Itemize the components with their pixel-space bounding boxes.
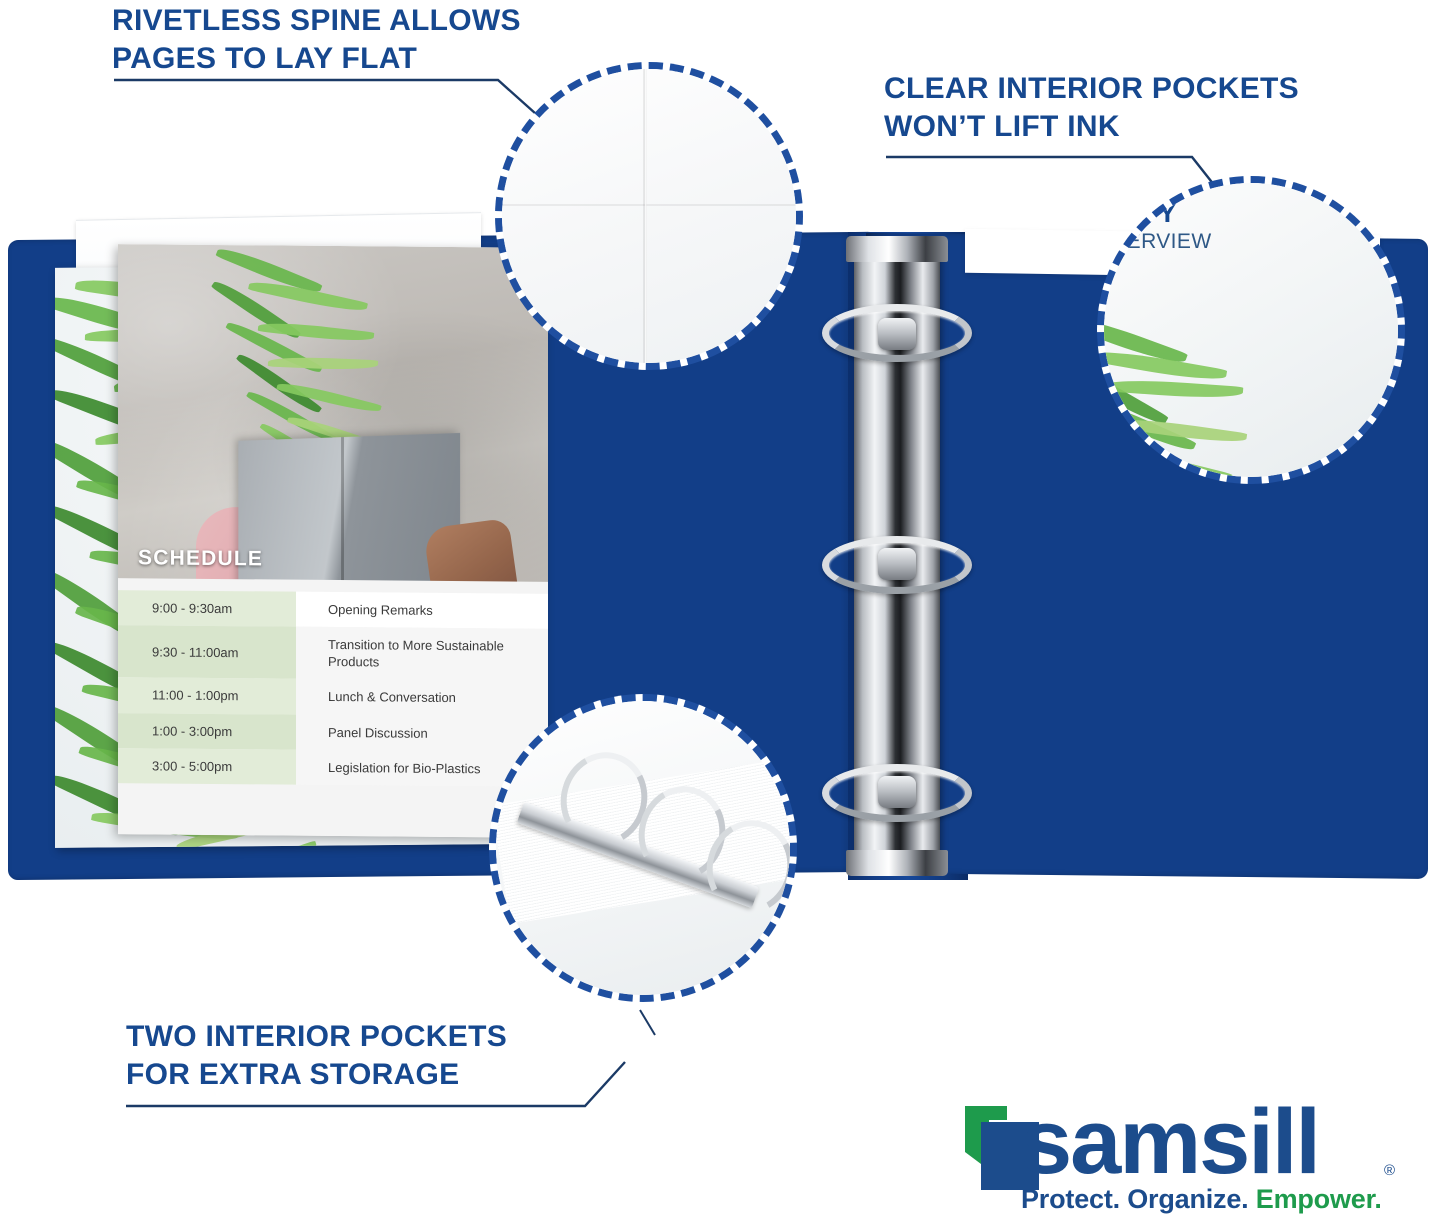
schedule-heading: SCHEDULE [138,546,263,571]
tagline-empower: Empower. [1256,1184,1382,1214]
pages-lay-flat-detail-icon [495,62,803,370]
magnifier-bottom-content [489,694,797,1002]
logo-wordmark: samsill [1021,1096,1319,1188]
schedule-time-cell: 3:00 - 5:00pm [118,748,296,785]
callout-rivetless-spine: Rivetless spine allows pages to lay flat [112,2,521,78]
registered-trademark: ® [1384,1162,1395,1179]
schedule-time-cell: 9:30 - 11:00am [118,625,296,679]
ring-lever-bottom [846,850,948,876]
samsill-logo: samsill ® Protect. Organize. Empower. [963,1104,1395,1208]
ring-clasp-2 [878,548,916,580]
leader-line-top-left [114,80,545,122]
schedule-table: 9:00 - 9:30amOpening Remarks9:30 - 11:00… [118,590,548,787]
magnifier-right-content: ABILITY AM OVERVIEW [1097,176,1405,484]
schedule-session-cell: Opening Remarks [296,592,548,629]
schedule-document: SCHEDULE 9:00 - 9:30amOpening Remarks9:3… [118,244,548,838]
logo-tagline: Protect. Organize. Empower. [1021,1184,1382,1215]
schedule-time-cell: 9:00 - 9:30am [118,590,296,627]
table-row: 9:30 - 11:00amTransition to More Sustain… [118,625,548,681]
magnifier-top-content [495,62,803,370]
page-seam-vertical [643,62,647,370]
interior-pocket-detail-icon [489,694,797,1002]
leader-line-bottom-center [640,1010,655,1035]
schedule-session-cell: Panel Discussion [296,714,548,751]
schedule-session-cell: Transition to More Sustainable Products [296,627,548,682]
schedule-panel: SCHEDULE 9:00 - 9:30amOpening Remarks9:3… [118,578,548,838]
schedule-table-body: 9:00 - 9:30amOpening Remarks9:30 - 11:00… [118,590,548,787]
ring-mechanism [806,236,996,876]
callout-two-interior-pockets: Two interior pockets for extra storage [126,1018,507,1094]
schedule-time-cell: 1:00 - 3:00pm [118,713,296,750]
ring-clasp-1 [878,318,916,350]
callout-clear-interior-pockets: Clear interior pockets won’t lift ink [884,70,1299,146]
tagline-protect-organize: Protect. Organize. [1021,1184,1256,1214]
table-row: 9:00 - 9:30amOpening Remarks [118,590,548,629]
table-row: 3:00 - 5:00pmLegislation for Bio-Plastic… [118,748,548,787]
leader-line-top-right [886,157,1222,195]
magnified-subtitle-fragment: AM OVERVIEW [1097,230,1212,254]
clear-pocket-detail-icon: ABILITY AM OVERVIEW [1097,176,1405,484]
product-feature-image: SUSTAINABILITY PROGRAM OVERVIEW SCHEDULE… [0,0,1445,1226]
magnified-title-fragment: ABILITY [1097,198,1177,229]
table-row: 11:00 - 1:00pmLunch & Conversation [118,678,548,717]
page-seam-horizontal [495,204,803,206]
table-row: 1:00 - 3:00pmPanel Discussion [118,713,548,752]
ring-clasp-3 [878,776,916,808]
schedule-time-cell: 11:00 - 1:00pm [118,678,296,715]
ring-lever-top [846,236,948,262]
schedule-session-cell: Lunch & Conversation [296,679,548,716]
